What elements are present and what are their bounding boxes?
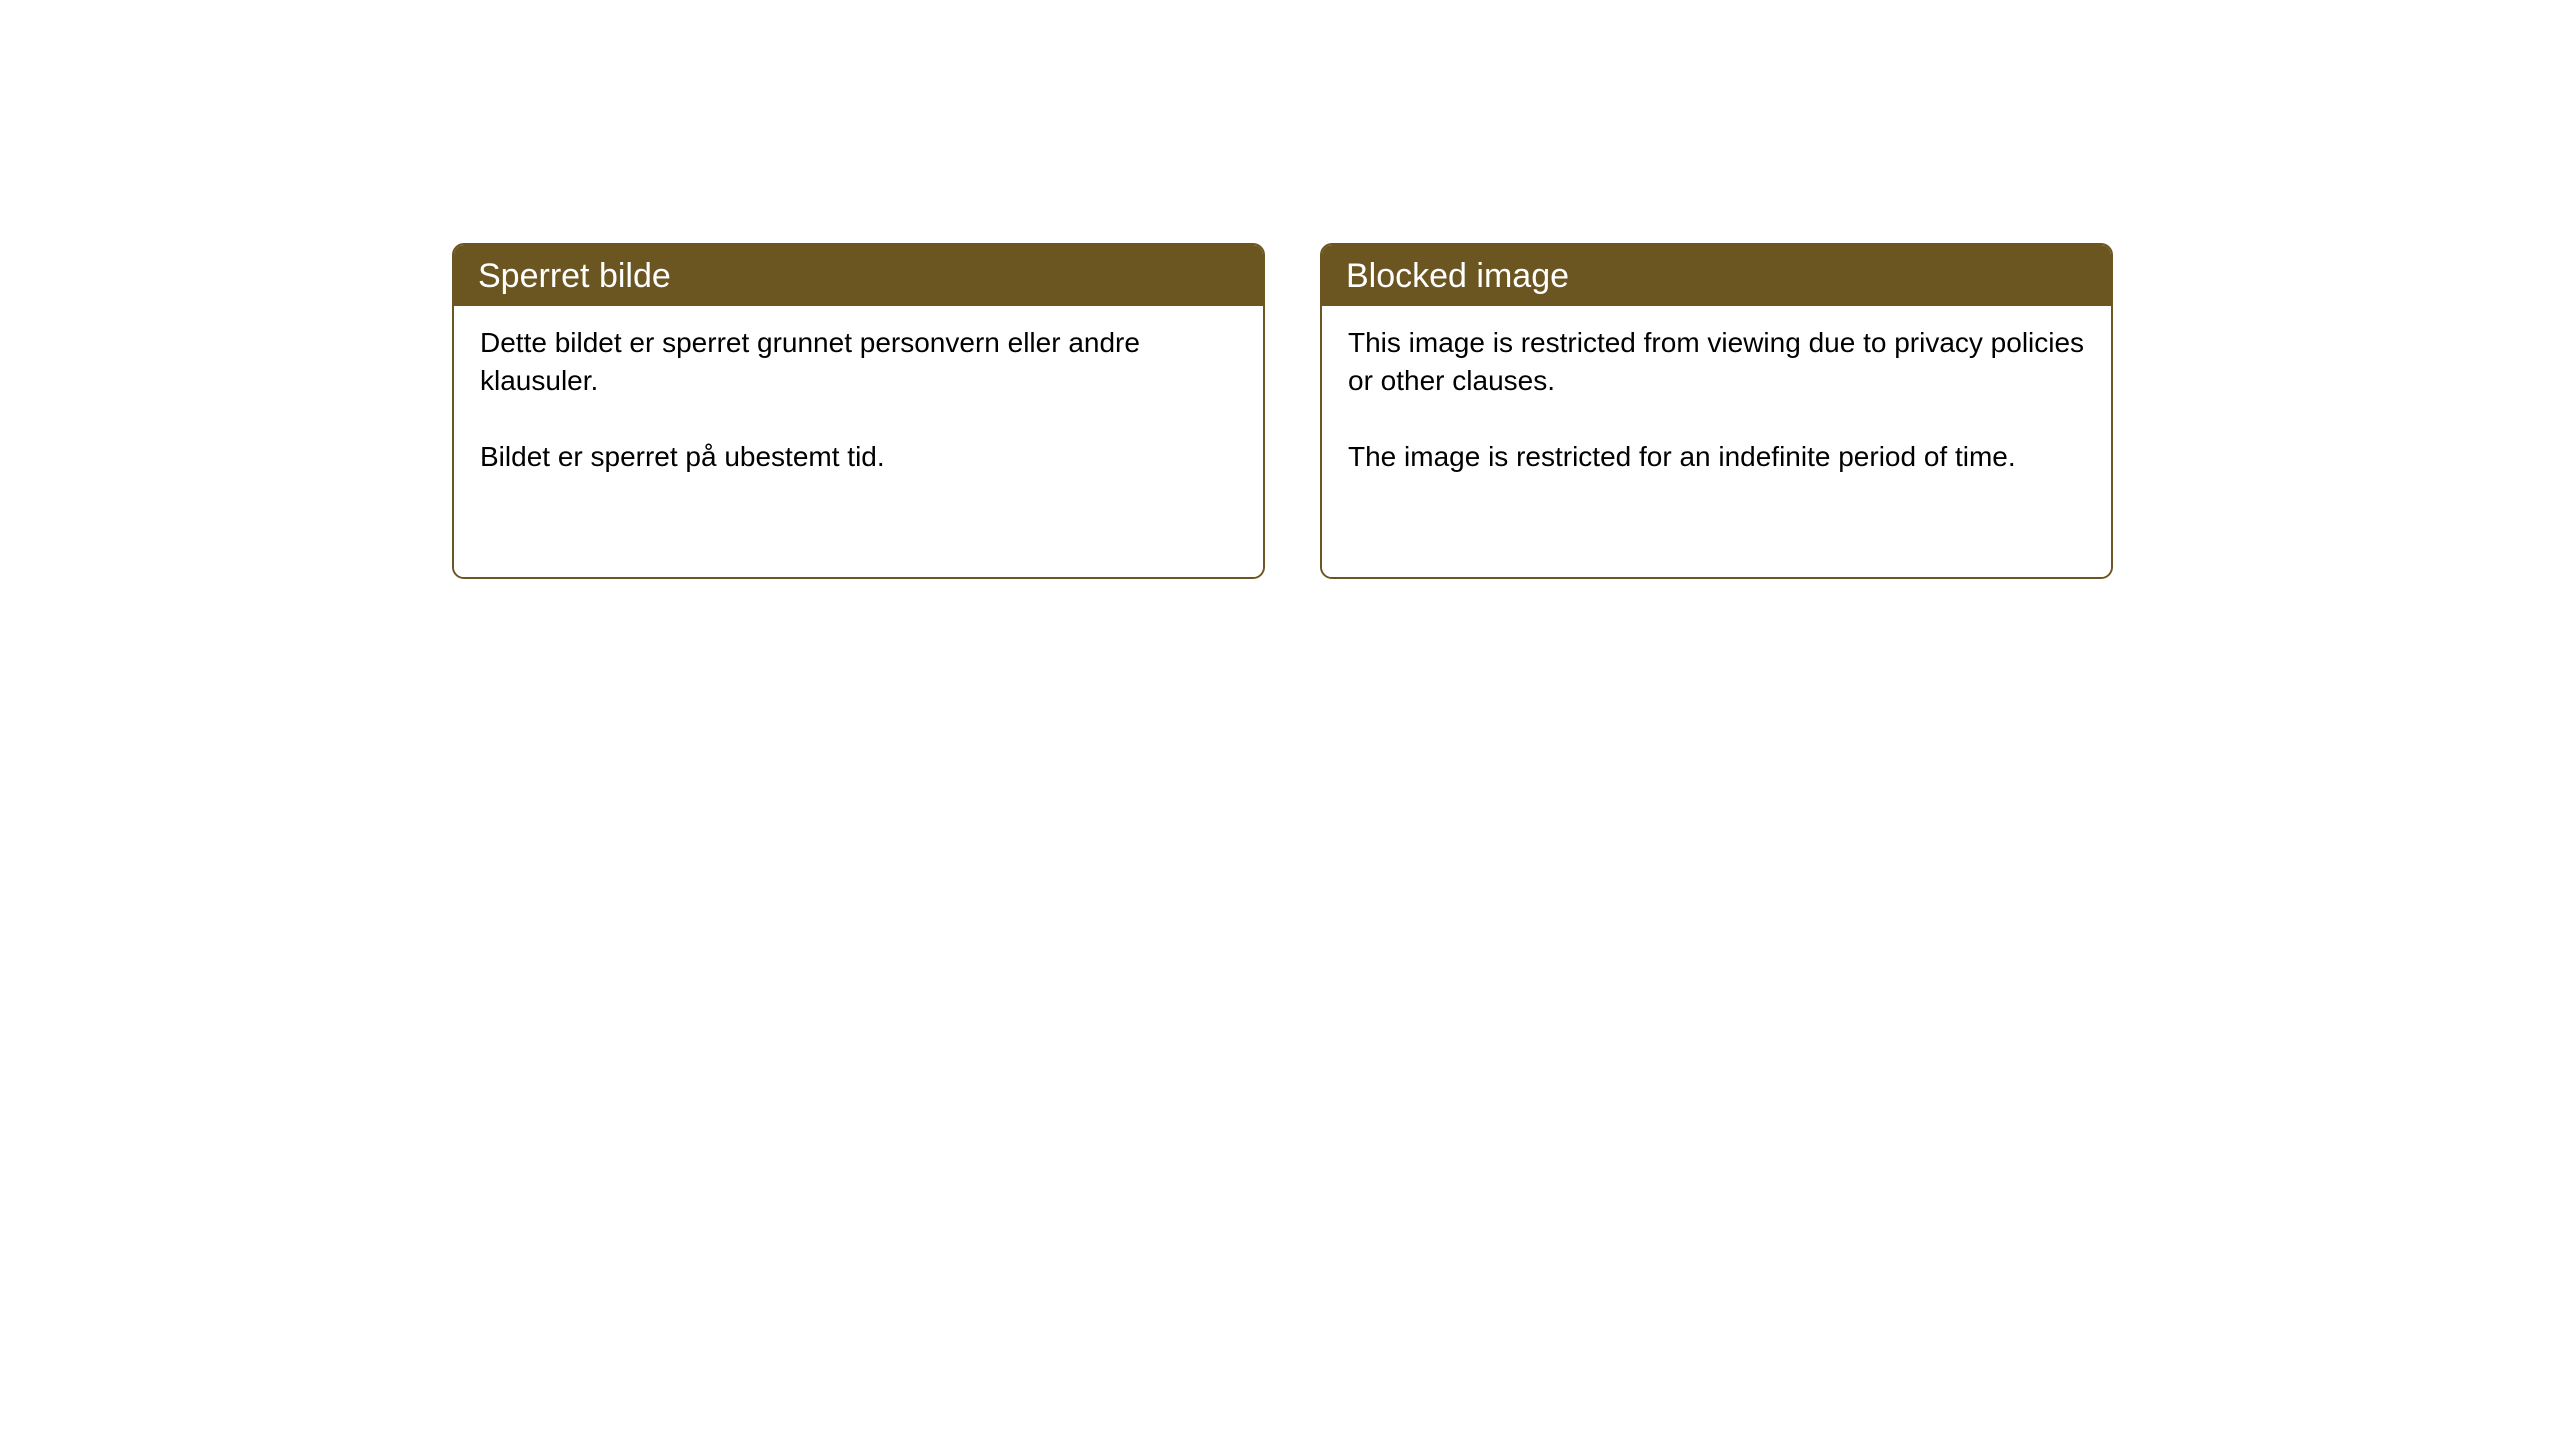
page-canvas: Sperret bilde Dette bildet er sperret gr… <box>0 0 2560 1440</box>
card-header-norwegian: Sperret bilde <box>454 245 1263 306</box>
card-body-english: This image is restricted from viewing du… <box>1322 306 2111 577</box>
card-title-norwegian: Sperret bilde <box>478 256 671 296</box>
card-paragraph-primary-norwegian: Dette bildet er sperret grunnet personve… <box>480 324 1237 400</box>
blocked-image-card-english: Blocked image This image is restricted f… <box>1320 243 2113 579</box>
card-paragraph-secondary-english: The image is restricted for an indefinit… <box>1348 438 2085 476</box>
paragraph-spacer <box>1348 400 2085 438</box>
card-header-english: Blocked image <box>1322 245 2111 306</box>
paragraph-spacer <box>480 400 1237 438</box>
blocked-image-card-norwegian: Sperret bilde Dette bildet er sperret gr… <box>452 243 1265 579</box>
card-body-norwegian: Dette bildet er sperret grunnet personve… <box>454 306 1263 577</box>
card-title-english: Blocked image <box>1346 256 1569 296</box>
card-paragraph-primary-english: This image is restricted from viewing du… <box>1348 324 2085 400</box>
card-paragraph-secondary-norwegian: Bildet er sperret på ubestemt tid. <box>480 438 1237 476</box>
